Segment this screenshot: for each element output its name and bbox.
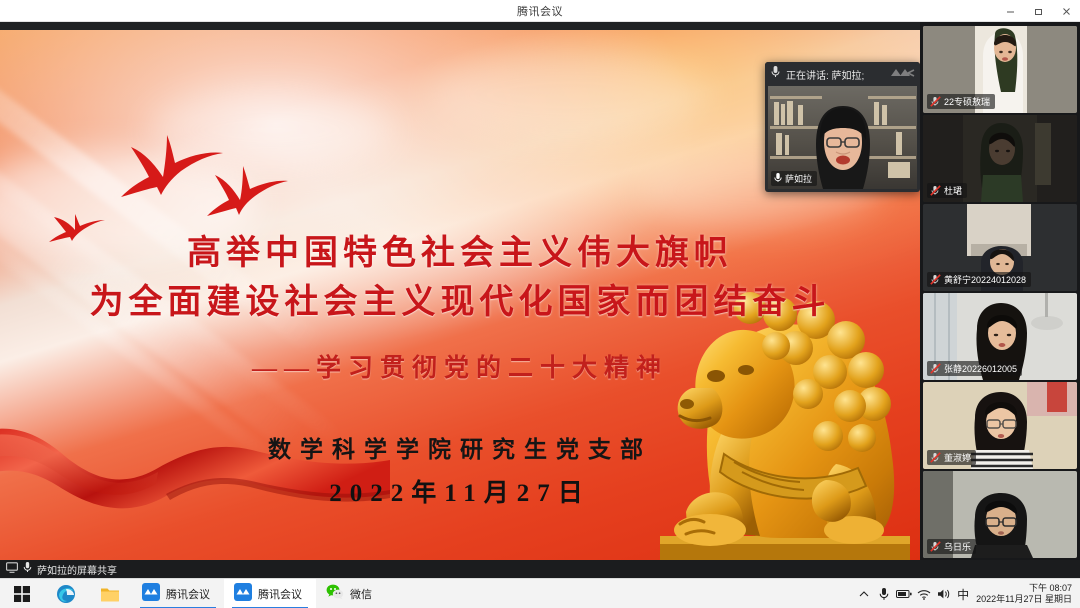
participant-tile[interactable]: 董淑婷	[923, 382, 1077, 469]
participant-name: 黄舒宁20224012028	[944, 273, 1026, 286]
participant-tile[interactable]: 22专硕敖瑞	[923, 26, 1077, 113]
microphone-icon	[23, 560, 32, 578]
speaker-icon[interactable]	[934, 579, 954, 608]
taskbar-app-tencent-meeting-1[interactable]: 腾讯会议	[132, 579, 224, 608]
mic-muted-icon	[930, 363, 941, 374]
taskbar-app-label: 微信	[350, 586, 372, 602]
microphone-icon	[774, 172, 782, 185]
wechat-icon	[326, 583, 344, 604]
slide-title-line2: 为全面建设社会主义现代化国家而团结奋斗	[0, 274, 920, 323]
participant-tile[interactable]: 杜珺	[923, 115, 1077, 202]
participant-name: 董淑婷	[944, 451, 971, 464]
mic-muted-icon	[930, 541, 941, 552]
taskbar-clock[interactable]: 下午 08:07 2022年11月27日 星期日	[972, 579, 1080, 608]
speaking-status-label: 正在讲话: 萨如拉;	[786, 67, 864, 82]
tencent-meeting-icon	[142, 583, 160, 604]
participant-name-chip: 张静20226012005	[927, 361, 1022, 376]
participants-sidebar[interactable]: 22专硕敖瑞	[920, 22, 1080, 560]
chevron-up-icon[interactable]	[854, 579, 874, 608]
file-explorer-icon[interactable]	[88, 579, 132, 608]
window-title-bar: 腾讯会议	[0, 0, 1080, 22]
taskbar-app-label: 腾讯会议	[166, 586, 210, 602]
participant-name-chip: 杜珺	[927, 183, 967, 198]
chevron-arrows-icon[interactable]	[889, 67, 915, 78]
participant-tile[interactable]: 黄舒宁20224012028	[923, 204, 1077, 291]
battery-icon[interactable]	[894, 579, 914, 608]
slide-subtitle: ——学习贯彻党的二十大精神	[0, 348, 920, 384]
taskbar-app-label: 腾讯会议	[258, 586, 302, 602]
participant-tile[interactable]: 乌日乐	[923, 471, 1077, 558]
windows-start-icon[interactable]	[0, 579, 44, 608]
participant-tile[interactable]: 张静20226012005	[923, 293, 1077, 380]
slide-organization: 数学科学学院研究生党支部	[0, 430, 920, 464]
monitor-icon	[6, 560, 18, 578]
edge-browser-icon[interactable]	[44, 579, 88, 608]
participant-name-chip: 黄舒宁20224012028	[927, 272, 1031, 287]
microphone-icon	[771, 65, 780, 83]
clock-date: 2022年11月27日 星期日	[976, 594, 1072, 605]
slide-date: 2022年11月27日	[0, 473, 920, 509]
minimize-button[interactable]	[996, 0, 1024, 22]
windows-taskbar[interactable]: 腾讯会议 腾讯会议 微信	[0, 578, 1080, 608]
speaker-avatar	[810, 102, 876, 189]
screen-share-status-bar: 萨如拉的屏幕共享	[0, 560, 1080, 578]
participant-name-chip: 董淑婷	[927, 450, 976, 465]
speaker-name: 萨如拉	[785, 172, 812, 185]
meeting-window: 高举中国特色社会主义伟大旗帜 为全面建设社会主义现代化国家而团结奋斗 ——学习贯…	[0, 22, 1080, 560]
floating-speaker-panel[interactable]: 正在讲话: 萨如拉;	[765, 62, 920, 192]
participant-name: 张静20226012005	[944, 362, 1017, 375]
speaker-panel-header: 正在讲话: 萨如拉;	[765, 62, 920, 86]
window-title: 腾讯会议	[517, 3, 563, 19]
mic-muted-icon	[930, 274, 941, 285]
clock-time: 下午 08:07	[1029, 583, 1072, 594]
microphone-icon[interactable]	[874, 579, 894, 608]
share-status-text: 萨如拉的屏幕共享	[37, 562, 117, 577]
speaker-name-chip: 萨如拉	[771, 171, 817, 186]
participant-name-chip: 乌日乐	[927, 539, 976, 554]
tencent-meeting-icon	[234, 583, 252, 604]
speaker-video-feed: 萨如拉	[768, 86, 917, 189]
restore-button[interactable]	[1024, 0, 1052, 22]
participant-name: 22专硕敖瑞	[944, 95, 990, 108]
mic-muted-icon	[930, 452, 941, 463]
wifi-icon[interactable]	[914, 579, 934, 608]
taskbar-app-tencent-meeting-2[interactable]: 腾讯会议	[224, 579, 316, 608]
system-tray[interactable]: 中 下午 08:07 2022年11月27日 星期日	[854, 579, 1080, 608]
participant-name: 乌日乐	[944, 540, 971, 553]
mic-muted-icon	[930, 96, 941, 107]
taskbar-app-wechat[interactable]: 微信	[316, 579, 386, 608]
participant-name: 杜珺	[944, 184, 962, 197]
ime-indicator[interactable]: 中	[954, 579, 972, 608]
close-button[interactable]	[1052, 0, 1080, 22]
participant-name-chip: 22专硕敖瑞	[927, 94, 995, 109]
window-controls	[996, 0, 1080, 22]
mic-muted-icon	[930, 185, 941, 196]
slide-title-line1: 高举中国特色社会主义伟大旗帜	[0, 225, 920, 274]
